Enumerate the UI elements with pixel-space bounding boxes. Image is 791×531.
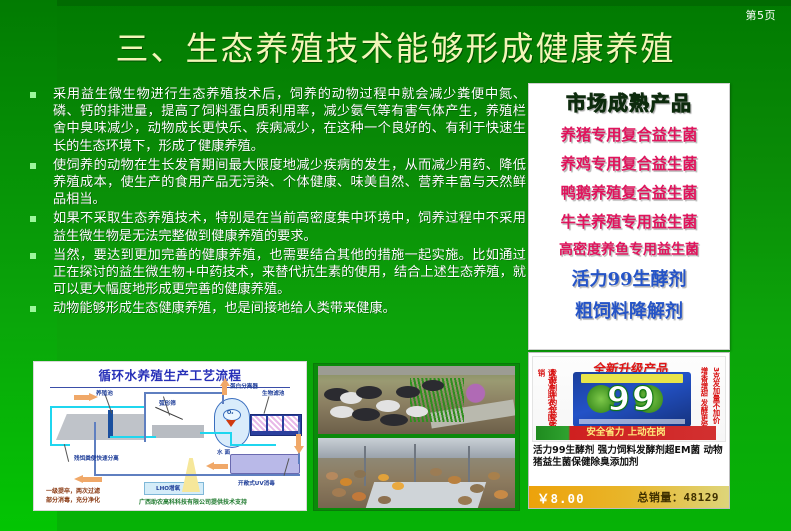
culture-tank-drain bbox=[108, 410, 113, 438]
uv-disinfection-shape bbox=[230, 454, 300, 474]
list-item: 动物能够形成生态健康养殖，也是间接地给人类带来健康。 bbox=[26, 300, 526, 317]
pig-shape bbox=[396, 386, 420, 398]
label-culture-tank: 养殖池 bbox=[96, 389, 113, 397]
pig-shape bbox=[352, 408, 380, 421]
flow-footnote-left: 一级提卒，两次过滤 部分消毒，充分净化 bbox=[46, 487, 100, 505]
leader-line bbox=[264, 396, 270, 414]
flow-diagram-card: 循环水养殖生产工艺流程 O₂ bbox=[33, 361, 307, 511]
flow-arrow-down-icon bbox=[294, 446, 304, 454]
flow-arrow-left2-tail bbox=[214, 464, 228, 469]
bio-filter-media-3 bbox=[284, 416, 298, 431]
label-water-surface: 水 面 bbox=[217, 448, 230, 456]
pigs-feeding-photo bbox=[318, 366, 515, 434]
list-item: 采用益生微生物进行生态养殖技术后，饲养的动物过程中就会减少粪便中氮、磷、钙的排泄… bbox=[26, 86, 526, 155]
chicken-shape bbox=[470, 484, 484, 493]
product-item: 高密度养鱼专用益生菌 bbox=[529, 239, 729, 259]
product-description[interactable]: 活力99生酵剂 强力饲料发酵剂超EM菌 动物猪益生菌保健除臭添加剂 bbox=[533, 445, 725, 468]
flow-diagram-title: 循环水养殖生产工艺流程 bbox=[34, 365, 306, 384]
bullet-text: 使饲养的动物在生长发育期间最大限度地减少疾病的发生，从而减少用药、降低养殖成本，… bbox=[53, 157, 526, 209]
bullet-square-icon bbox=[30, 253, 36, 259]
chicken-shape bbox=[340, 478, 352, 486]
product-item: 养鸡专用复合益生菌 bbox=[529, 152, 729, 174]
product-highlight: 粗饲料降解剂 bbox=[529, 297, 729, 323]
label-waste-separation: 残饵粪便快速分离 bbox=[74, 454, 119, 462]
pipe-segment-dark bbox=[94, 474, 300, 476]
chicken-shape bbox=[352, 492, 366, 501]
shop-listing-card[interactable]: 全新升级产品 请认准助农全国总经销 发酵剂中的佼佼者 增香增甜 发酵更爱吃 3克… bbox=[528, 352, 730, 509]
flow-arrow-down-tail bbox=[296, 434, 301, 447]
product-item: 养猪专用复合益生菌 bbox=[529, 123, 729, 145]
product-sales: 总销量：48129 bbox=[637, 489, 719, 505]
product-photo: 全新升级产品 请认准助农全国总经销 发酵剂中的佼佼者 增香增甜 发酵更爱吃 3克… bbox=[532, 356, 726, 442]
pipe-segment bbox=[50, 444, 70, 446]
bag-bottom-band bbox=[579, 419, 685, 424]
product-item: 鸭鹅养殖复合益生菌 bbox=[529, 181, 729, 203]
list-item: 当然，要达到更加完善的健康养殖，也需要结合其他的措施一起实施。比如通过正在探讨的… bbox=[26, 247, 526, 299]
bio-filter-media-2 bbox=[268, 416, 282, 431]
product-highlight: 活力99生酵剂 bbox=[529, 265, 729, 291]
pipe-segment-dark bbox=[144, 392, 224, 394]
chicken-shape bbox=[430, 468, 442, 476]
label-arc-screen: 弧形筛 bbox=[159, 399, 176, 407]
side-text-left-2: 发酵剂中的佼佼者 bbox=[548, 369, 558, 428]
bullet-square-icon bbox=[30, 92, 36, 98]
bullet-text: 动物能够形成生态健康养殖，也是间接地给人类带来健康。 bbox=[53, 300, 526, 317]
bio-filter-media-1 bbox=[252, 416, 266, 431]
flow-footnote-right: 广西助农高科科技有限公司提供技术支持 bbox=[139, 497, 247, 506]
barn-post bbox=[364, 446, 366, 486]
pen-wall bbox=[318, 366, 515, 375]
pipe-segment bbox=[50, 406, 146, 408]
label-lho-oxygen: LHO增氧 bbox=[156, 484, 180, 492]
price-bar: ￥8.00 总销量：48129 bbox=[529, 486, 729, 508]
chicken-house-photo bbox=[318, 438, 515, 508]
product-list-header: 市场成熟产品 bbox=[529, 87, 729, 116]
bullet-text: 如果不采取生态养殖技术，特别是在当前高密度集中环境中，饲养过程中不采用益生微生物… bbox=[53, 210, 526, 244]
pig-shape bbox=[380, 414, 408, 426]
chicken-shape bbox=[488, 472, 500, 480]
product-price: ￥8.00 bbox=[537, 488, 585, 507]
top-accent-bar bbox=[0, 0, 791, 6]
pig-shape bbox=[356, 386, 382, 399]
pipe-segment bbox=[50, 406, 52, 446]
barn-roof bbox=[318, 438, 515, 458]
chicken-shape bbox=[326, 472, 338, 480]
bullet-text: 当然，要达到更加完善的健康养殖，也需要结合其他的措施一起实施。比如通过正在探讨的… bbox=[53, 247, 526, 299]
pipe-segment-dark bbox=[144, 392, 146, 442]
product-bag-graphic: 99 bbox=[573, 372, 691, 427]
oxygen-symbol-label: O₂ bbox=[227, 410, 233, 416]
flow-arrow-up-tail bbox=[222, 385, 227, 395]
flow-arrow-left-tail bbox=[82, 477, 102, 482]
leader-line bbox=[64, 444, 69, 462]
photo-collage bbox=[313, 363, 520, 511]
bullet-square-icon bbox=[30, 216, 36, 222]
label-protein-skimmer: 蛋白分离器 bbox=[230, 382, 258, 390]
bullet-square-icon bbox=[30, 163, 36, 169]
bag-number: 99 bbox=[582, 380, 682, 418]
pipe-segment bbox=[230, 434, 232, 446]
flow-arrow-right-tail bbox=[74, 395, 90, 400]
chicken-shape bbox=[448, 476, 461, 484]
chicken-shape bbox=[458, 496, 472, 505]
pipe-segment bbox=[110, 436, 156, 438]
chicken-shape bbox=[378, 474, 389, 481]
label-bio-filter: 生物滤池 bbox=[262, 389, 284, 397]
chicken-shape bbox=[378, 496, 391, 504]
separator-down-arrow-icon bbox=[226, 420, 236, 427]
page-title: 三、生态养殖技术能够形成健康养殖 bbox=[0, 27, 791, 71]
chicken-shape bbox=[332, 488, 346, 497]
pig-shape bbox=[406, 406, 428, 417]
pig-shape bbox=[376, 400, 400, 412]
bag-bottom-strip: 安全省力 上动在岗 bbox=[536, 426, 716, 440]
slide-canvas: 第5页 三、生态养殖技术能够形成健康养殖 采用益生微生物进行生态养殖技术后，饲养… bbox=[0, 0, 791, 531]
side-text-right-2: 3克发加量不加价 bbox=[711, 367, 721, 424]
chicken-shape bbox=[392, 482, 404, 490]
bullet-text: 采用益生微生物进行生态养殖技术后，饲养的动物过程中就会减少粪便中氮、磷、钙的排泄… bbox=[53, 86, 526, 155]
pig-shape bbox=[330, 406, 354, 418]
sales-value: 48129 bbox=[683, 491, 719, 504]
bullet-square-icon bbox=[30, 306, 36, 312]
bullet-list: 采用益生微生物进行生态养殖技术后，饲养的动物过程中就会减少粪便中氮、磷、钙的排泄… bbox=[26, 86, 526, 320]
product-item: 牛羊养殖专用益生菌 bbox=[529, 210, 729, 232]
pipe-segment bbox=[200, 432, 232, 434]
list-item: 如果不采取生态养殖技术，特别是在当前高密度集中环境中，饲养过程中不采用益生微生物… bbox=[26, 210, 526, 244]
chicken-shape bbox=[354, 470, 366, 478]
page-number: 第5页 bbox=[746, 7, 777, 23]
list-item: 使饲养的动物在生长发育期间最大限度地减少疾病的发生，从而减少用药、降低养殖成本，… bbox=[26, 157, 526, 209]
pig-shape bbox=[422, 380, 444, 391]
pipe-segment bbox=[230, 444, 276, 446]
pipe-segment-dark bbox=[94, 422, 96, 476]
chicken-shape bbox=[494, 490, 508, 499]
flow-arrow-left2-icon bbox=[206, 462, 214, 470]
sales-label: 总销量： bbox=[637, 491, 683, 504]
product-list-card: 市场成熟产品 养猪专用复合益生菌 养鸡专用复合益生菌 鸭鹅养殖复合益生菌 牛羊养… bbox=[528, 83, 730, 350]
label-uv-disinfection: 开敞式UV消毒 bbox=[238, 479, 275, 487]
barn-post bbox=[468, 446, 470, 486]
